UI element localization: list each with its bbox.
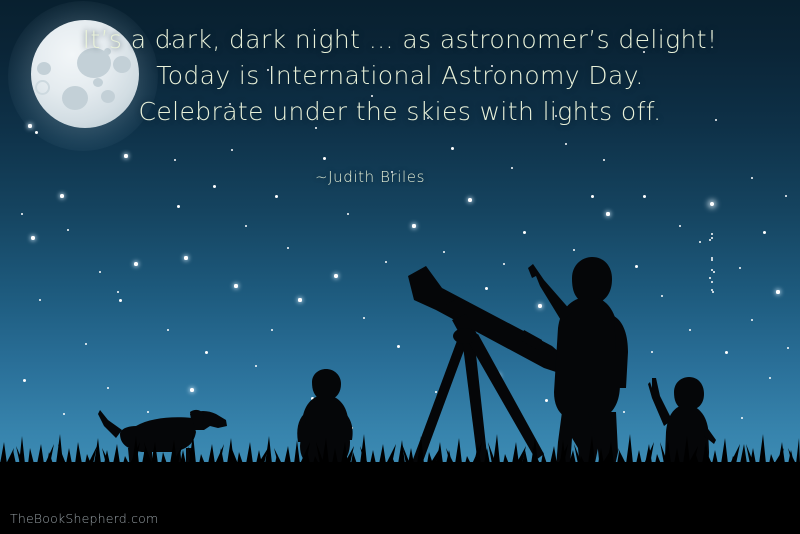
moon-crater <box>101 90 115 103</box>
moon-crater <box>104 48 111 55</box>
moon-crater <box>35 80 50 95</box>
moon-crater <box>93 78 103 87</box>
moon-crater <box>37 62 51 75</box>
watermark-text: TheBookShepherd.com <box>10 511 158 526</box>
moon-crater <box>113 56 131 73</box>
quote-attribution: ~Judith Briles <box>0 168 800 186</box>
moon-disc <box>31 20 139 128</box>
astronomy-day-poster: It’s a dark, dark night … as astronomer’… <box>0 0 800 534</box>
moon-icon <box>18 8 148 143</box>
moon-crater <box>62 86 88 110</box>
